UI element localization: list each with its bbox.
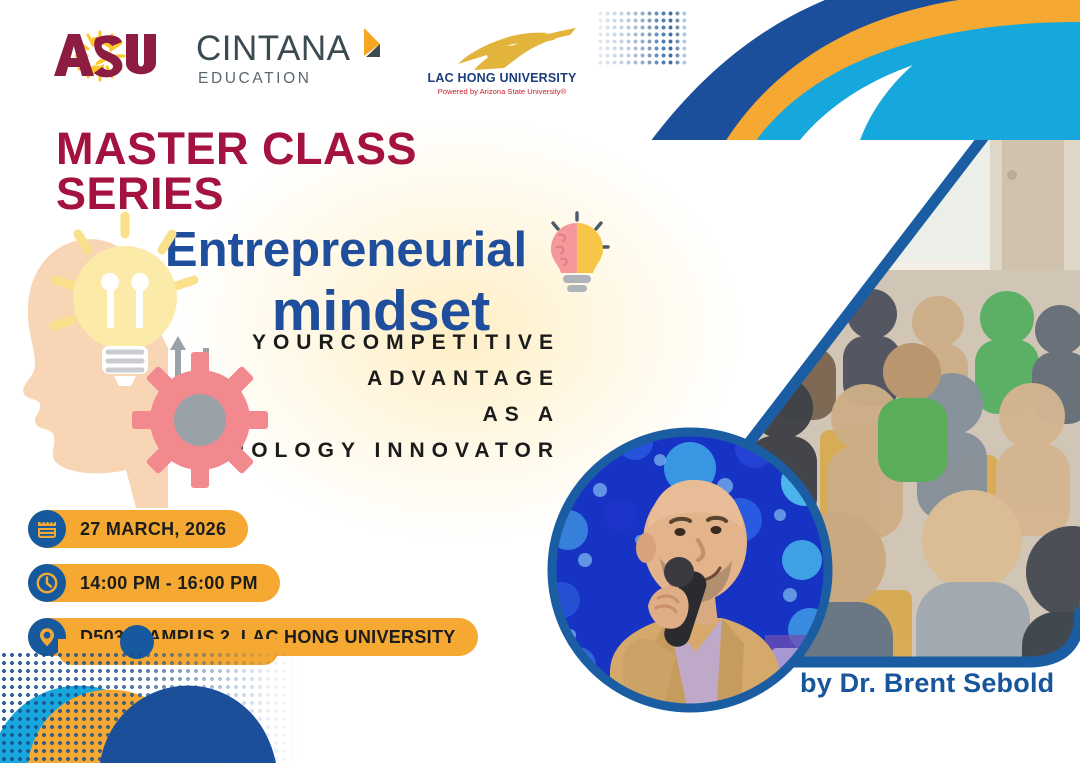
event-poster: CINTANA EDUCATION LAC HONG UNIVERSITY Po… [0,0,1080,763]
lac-hong-logo: LAC HONG UNIVERSITY Powered by Arizona S… [428,26,576,105]
event-details: 27 MARCH, 2026 14:00 PM - 16:00 PM D503,… [28,510,478,656]
cintana-wordmark: CINTANA [196,29,351,68]
detail-time-text: 14:00 PM - 16:00 PM [80,573,258,594]
speaker-name: by Dr. Brent Sebold [800,668,1054,699]
calendar-icon [28,510,66,548]
detail-date[interactable]: 27 MARCH, 2026 [28,510,248,548]
lac-hong-wordmark: LAC HONG UNIVERSITY [428,71,576,85]
cintana-subtext: EDUCATION [198,70,312,87]
clock-icon [28,564,66,602]
head-lightbulb-gear-illustration [18,198,308,508]
asu-logo [52,26,156,89]
dot-grid-pattern-top [597,10,689,66]
dot-grid-pattern-bottom [0,651,300,763]
detail-date-text: 27 MARCH, 2026 [80,519,226,540]
detail-time[interactable]: 14:00 PM - 16:00 PM [28,564,280,602]
brain-bulb-icon [535,207,620,307]
speaker-portrait [540,420,840,720]
logo-row: CINTANA EDUCATION LAC HONG UNIVERSITY Po… [52,26,576,105]
gear-icon [132,352,268,488]
lightbulb-glass [73,246,177,350]
lac-hong-subtext: Powered by Arizona State University® [438,87,567,96]
cintana-logo: CINTANA EDUCATION [196,26,388,93]
